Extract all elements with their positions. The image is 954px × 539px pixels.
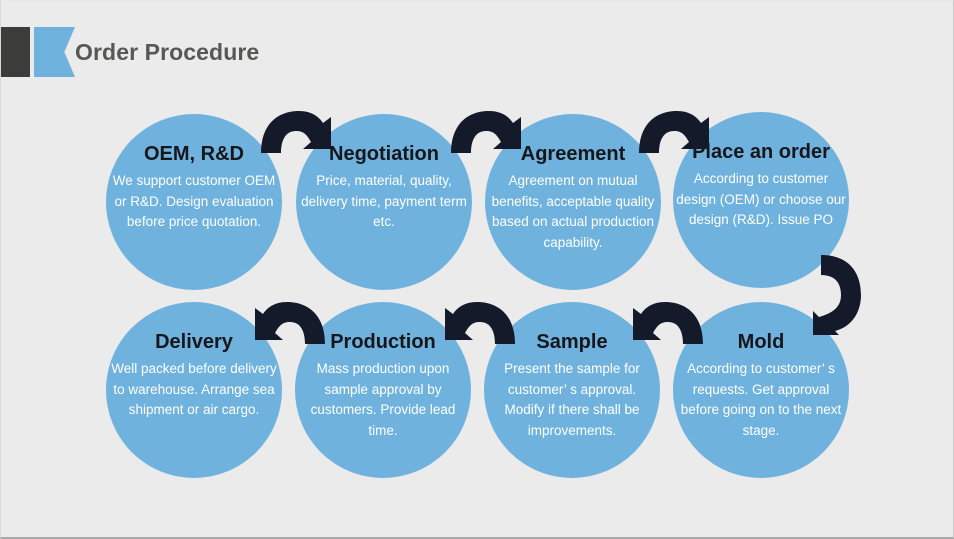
step-title: Production bbox=[330, 332, 436, 353]
step-title: OEM, R&D bbox=[144, 144, 244, 165]
step-description: According to customer design (OEM) or ch… bbox=[673, 169, 849, 231]
step-title: Place an order bbox=[692, 142, 830, 163]
step-title: Sample bbox=[536, 332, 607, 353]
arrow-left-icon bbox=[255, 300, 327, 348]
step-title: Negotiation bbox=[329, 144, 439, 165]
header-ribbon-shape bbox=[34, 27, 75, 77]
arrow-right-icon bbox=[637, 109, 709, 157]
step-description: Agreement on mutual benefits, acceptable… bbox=[489, 171, 657, 253]
slide-canvas: Order Procedure OEM, R&D We support cust… bbox=[0, 0, 954, 539]
arrow-left-icon bbox=[633, 300, 705, 348]
step-description: Price, material, quality, delivery time,… bbox=[300, 171, 468, 233]
step-title: Delivery bbox=[155, 332, 233, 353]
step-description: Present the sample for customer’ s appro… bbox=[488, 359, 656, 441]
step-description: We support customer OEM or R&D. Design e… bbox=[110, 171, 278, 233]
step-title: Agreement bbox=[521, 144, 625, 165]
arrow-left-icon bbox=[445, 300, 517, 348]
arrow-right-icon bbox=[259, 109, 331, 157]
step-description: Well packed before delivery to warehouse… bbox=[110, 359, 278, 421]
step-description: Mass production upon sample approval by … bbox=[299, 359, 467, 441]
step-description: According to customer’ s requests. Get a… bbox=[673, 359, 849, 441]
step-title: Mold bbox=[738, 332, 785, 353]
process-step-oem-rd[interactable]: OEM, R&D We support customer OEM or R&D.… bbox=[106, 114, 282, 290]
arrow-down-left-icon bbox=[813, 253, 863, 335]
slide-header: Order Procedure bbox=[1, 27, 953, 77]
page-title: Order Procedure bbox=[75, 27, 259, 77]
arrow-right-icon bbox=[449, 109, 521, 157]
header-dark-block bbox=[1, 27, 30, 77]
